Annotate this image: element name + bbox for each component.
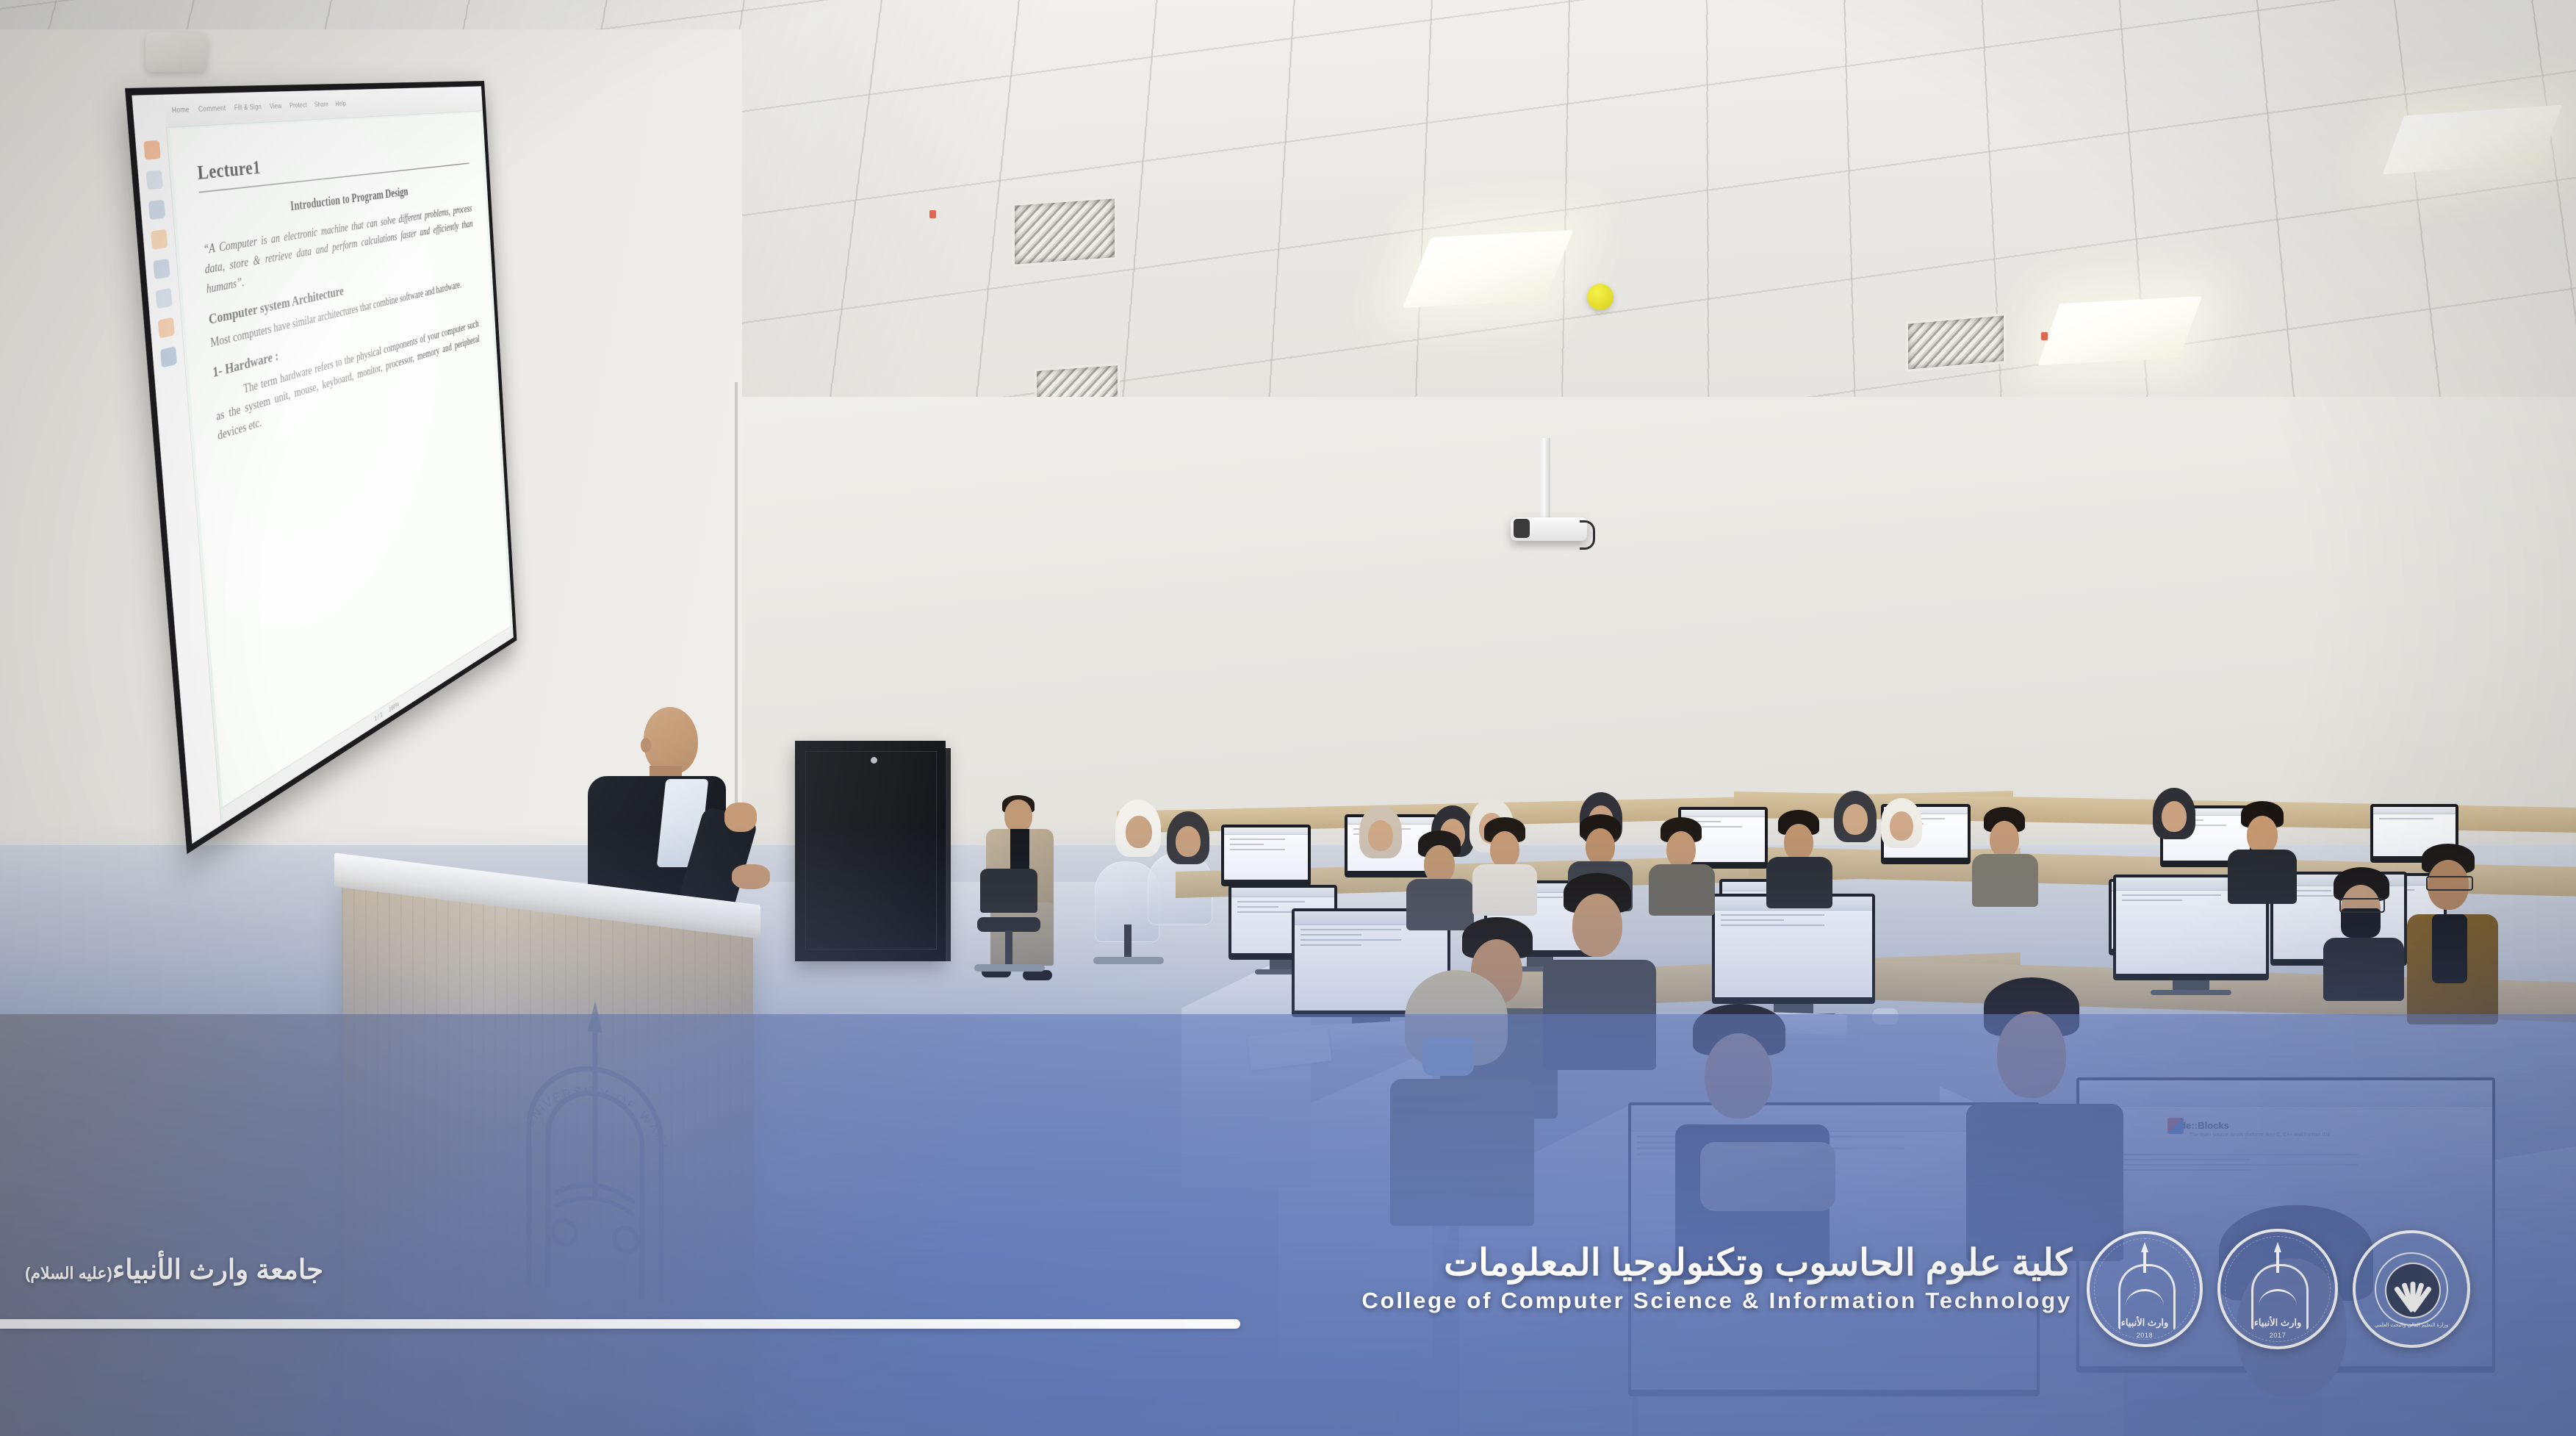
- head: [644, 707, 698, 775]
- seal-arabic-text: وارث الأنبياء: [2111, 1317, 2179, 1329]
- college-name-arabic: كلية علوم الحاسوب وتكنولوجيا المعلومات: [1249, 1242, 2072, 1283]
- cabinet-lock-icon[interactable]: [871, 757, 877, 764]
- menu-item-protect[interactable]: Protect: [289, 101, 307, 110]
- college-name-block: كلية علوم الحاسوب وتكنولوجيا المعلومات C…: [1249, 1242, 2072, 1314]
- menu-item-comment[interactable]: Comment: [198, 104, 226, 114]
- codeblocks-logo-icon: [2167, 1118, 2184, 1134]
- gate-emblem-icon: وارث الأنبياء 2018: [2111, 1251, 2179, 1327]
- air-vent: [1906, 313, 2006, 372]
- lock-icon[interactable]: [158, 317, 175, 338]
- ceiling-sensor-indicator: [929, 210, 936, 218]
- classroom-scene: Home Comment Fill & Sign View Protect Sh…: [0, 0, 2576, 1436]
- hand: [732, 864, 770, 889]
- ear: [641, 738, 651, 753]
- lecture-hall-photo: Home Comment Fill & Sign View Protect Sh…: [0, 0, 2576, 1436]
- logo-strip: وارث الأنبياء 2018 وارث الأنبياء 2017: [2087, 1229, 2470, 1349]
- layers-icon[interactable]: [148, 200, 165, 220]
- ministry-seal-arabic-text: وزارة التعليم العالي والبحث العلمي: [2373, 1322, 2450, 1328]
- menu-item-home[interactable]: Home: [171, 106, 190, 115]
- stamp-icon[interactable]: [156, 288, 173, 309]
- bookmark-icon[interactable]: [143, 140, 160, 160]
- projector-mount-pole: [1540, 438, 1550, 526]
- projector-lens: [1514, 519, 1530, 538]
- university-name-arabic: جامعة وارث الأنبياء: [112, 1254, 323, 1285]
- ceiling-sensor-indicator: [2041, 332, 2048, 340]
- tools-icon[interactable]: [160, 346, 177, 368]
- ceiling-light: [2383, 105, 2562, 175]
- menu-item-help[interactable]: Help: [335, 100, 346, 107]
- seal-founding-year: 2018: [2111, 1332, 2179, 1339]
- ministry-emblem-icon: وزارة التعليم العالي والبحث العلمي: [2373, 1251, 2450, 1327]
- comment-icon[interactable]: [151, 229, 168, 250]
- ministry-seal-logo: وزارة التعليم العالي والبحث العلمي: [2353, 1230, 2470, 1348]
- student-monitor[interactable]: [1221, 825, 1311, 886]
- zoom-level: 100%: [389, 701, 399, 714]
- menu-item-view[interactable]: View: [270, 102, 282, 110]
- shoe: [1023, 970, 1052, 980]
- mouse[interactable]: [1872, 1008, 1899, 1024]
- ide-tagline: The open source, cross platform, free C,…: [2079, 1132, 2492, 1138]
- wall-speaker: [145, 32, 207, 72]
- hand: [724, 803, 757, 832]
- student-monitor[interactable]: [1712, 894, 1875, 1004]
- menu-item-fill-sign[interactable]: Fill & Sign: [234, 103, 262, 112]
- brand-divider-rule: [0, 1319, 1240, 1329]
- cabinet-door[interactable]: [805, 751, 937, 949]
- college-name-english: College of Computer Science & Informatio…: [1249, 1288, 2072, 1314]
- page-indicator: 1 / 1: [374, 711, 382, 722]
- ceiling-light: [2037, 296, 2202, 365]
- page-thumbnail-icon[interactable]: [146, 170, 163, 190]
- lectern-university-logo: UNIVERSITY OF WARITH AL-ANBIYAA: [485, 964, 705, 1315]
- yellow-ball: [1587, 284, 1613, 310]
- university-name: جامعة وارث الأنبياء(عليه السلام): [25, 1254, 323, 1285]
- university-college-seal-logo: وارث الأنبياء 2018: [2087, 1231, 2203, 1347]
- university-honorific: (عليه السلام): [25, 1264, 112, 1282]
- attachment-icon[interactable]: [153, 259, 170, 279]
- equipment-cabinet: [795, 741, 946, 961]
- university-seal-logo: وارث الأنبياء 2017: [2217, 1229, 2338, 1349]
- seal-arabic-text: وارث الأنبياء: [2244, 1317, 2311, 1329]
- gate-emblem-icon: وارث الأنبياء 2017: [2244, 1251, 2311, 1327]
- projector-cable: [1580, 520, 1595, 550]
- air-vent: [1012, 196, 1117, 267]
- svg-text:UNIVERSITY OF WARITH AL-ANBIYA: UNIVERSITY OF WARITH AL-ANBIYAA: [485, 964, 672, 1153]
- scarf: [1700, 1142, 1835, 1211]
- seal-founding-year: 2017: [2244, 1332, 2311, 1339]
- menu-item-share[interactable]: Share: [314, 101, 329, 109]
